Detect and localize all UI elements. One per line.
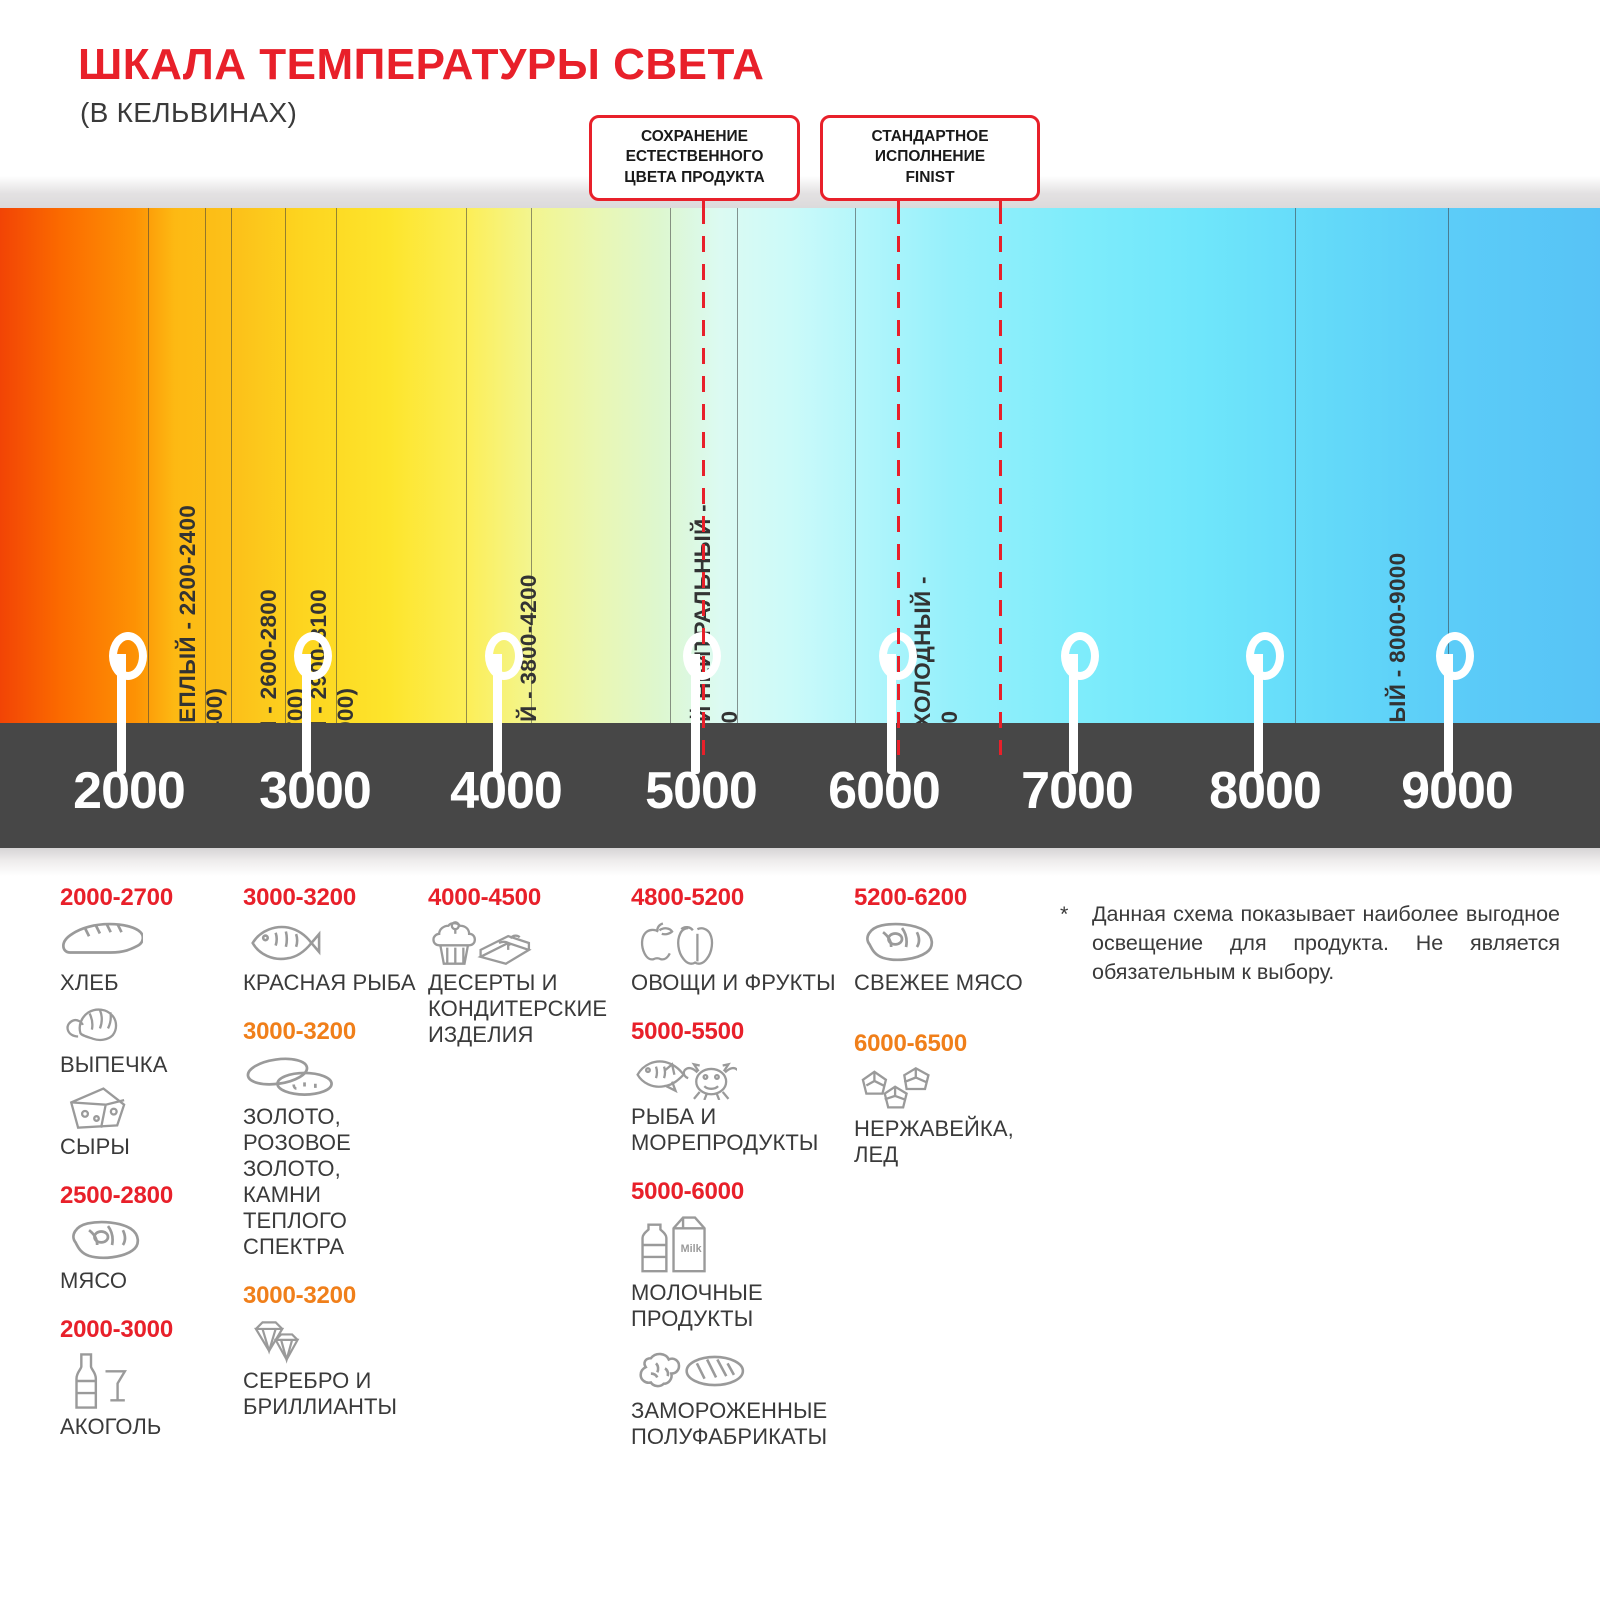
legend-range: 6000-6500 xyxy=(854,1030,1044,1058)
callout-1-line-2: ЕСТЕСТВЕННОГО xyxy=(604,147,785,167)
diamond-icon xyxy=(245,1318,311,1364)
pin-ring xyxy=(485,632,523,680)
legend-item-label: ЗАМОРОЖЕННЫЕ ПОЛУФАБРИКАТЫ xyxy=(631,1398,851,1450)
legend-range: 4800-5200 xyxy=(631,884,851,912)
legend-item-label: СВЕЖЕЕ МЯСО xyxy=(854,970,1044,996)
legend-item-gold: ЗОЛОТО, РОЗОВОЕ ЗОЛОТО, КАМНИ ТЕПЛОГО СП… xyxy=(243,1054,423,1260)
legend-column-2: 3000-3200 КРАСНАЯ РЫБА 3000-3200 xyxy=(243,884,423,1442)
legend-item-label: НЕРЖАВЕЙКА, ЛЕД xyxy=(854,1116,1044,1168)
legend-group: 3000-3200 СЕРЕБРО И БРИЛЛИАНТЫ xyxy=(243,1282,423,1420)
legend-item-desserts: ДЕСЕРТЫ И КОНДИТЕРСКИЕ ИЗДЕЛИЯ xyxy=(428,920,618,1048)
callout-natural-color: СОХРАНЕНИЕ ЕСТЕСТВЕННОГО ЦВЕТА ПРОДУКТА xyxy=(589,115,800,201)
legend-item-stainless-ice: НЕРЖАВЕЙКА, ЛЕД xyxy=(854,1066,1044,1168)
spectrum-label-super-warm-line2: (тип К 2400) xyxy=(202,688,228,723)
boundary-dash-6500 xyxy=(999,208,1002,755)
legend-range: 3000-3200 xyxy=(243,1282,423,1310)
legend-range: 2000-2700 xyxy=(60,884,235,912)
callout-2-line-2: ИСПОЛНЕНИЕ xyxy=(835,147,1025,167)
top-grey-band xyxy=(0,176,1600,208)
legend: 2000-2700 ХЛЕБ ВЫПЕЧКА xyxy=(0,884,1600,1600)
legend-item-label: МОЛОЧНЫЕ ПРОДУКТЫ xyxy=(631,1280,851,1332)
pin-ring xyxy=(294,632,332,680)
spectrum-divider xyxy=(466,208,467,723)
frozen-food-icon xyxy=(633,1348,748,1394)
legend-item-dairy: Milk МОЛОЧНЫЕ ПРОДУКТЫ xyxy=(631,1214,851,1332)
legend-item-silver-diamonds: СЕРЕБРО И БРИЛЛИАНТЫ xyxy=(243,1318,423,1420)
fish-crab-icon xyxy=(633,1054,737,1100)
spectrum-divider xyxy=(670,208,671,723)
legend-range: 5000-5500 xyxy=(631,1018,851,1046)
legend-range: 5000-6000 xyxy=(631,1178,851,1206)
scale-band: 2000 3000 4000 5000 6000 7000 8000 9000 xyxy=(0,723,1600,848)
legend-group: 2500-2800 МЯСО xyxy=(60,1182,235,1294)
spectrum-label-warm-2700-line1: ТЕПЛЫЙ - 2600-2800 xyxy=(256,589,282,723)
fish-icon xyxy=(245,920,322,966)
legend-item-alcohol: АКОГОЛЬ xyxy=(60,1352,235,1440)
legend-item-fish-seafood: РЫБА И МОРЕПРОДУКТЫ xyxy=(631,1054,851,1156)
boundary-dash-4800 xyxy=(702,208,705,755)
pin-ring xyxy=(1436,632,1474,680)
scale-tick-2000: 2000 xyxy=(73,761,185,821)
legend-item-label: РЫБА И МОРЕПРОДУКТЫ xyxy=(631,1104,851,1156)
scale-tick-5000: 5000 xyxy=(645,761,757,821)
legend-item-label: СЕРЕБРО И БРИЛЛИАНТЫ xyxy=(243,1368,423,1420)
rings-icon xyxy=(245,1054,340,1100)
legend-item-label: АКОГОЛЬ xyxy=(60,1414,235,1440)
legend-group: 4000-4500 ДЕСЕРТЫ И КОНДИТЕРСКИЕ ИЗДЕЛИЯ xyxy=(428,884,618,1048)
legend-group: 6000-6500 НЕРЖАВЕЙКА, ЛЕД xyxy=(854,1030,1044,1168)
cheese-icon xyxy=(62,1084,131,1130)
legend-item-label: СЫРЫ xyxy=(60,1134,235,1160)
steak-icon xyxy=(62,1218,143,1264)
legend-item-label: ДЕСЕРТЫ И КОНДИТЕРСКИЕ ИЗДЕЛИЯ xyxy=(428,970,618,1048)
pin-ring xyxy=(109,632,147,680)
legend-item-red-fish: КРАСНАЯ РЫБА xyxy=(243,920,423,996)
bottle-glass-icon xyxy=(62,1352,135,1410)
spectrum-divider xyxy=(148,208,149,723)
spectrum-label-super-warm-line1: СУПЕР ТЕПЛЫЙ - 2200-2400 xyxy=(175,505,201,723)
legend-item-frozen: ЗАМОРОЖЕННЫЕ ПОЛУФАБРИКАТЫ xyxy=(631,1348,851,1450)
page-subtitle: (В КЕЛЬВИНАХ) xyxy=(80,97,297,129)
page-title: ШКАЛА ТЕМПЕРАТУРЫ СВЕТА xyxy=(78,40,764,90)
legend-group: 2000-2700 ХЛЕБ ВЫПЕЧКА xyxy=(60,884,235,1160)
legend-group: 2000-3000 АКОГОЛЬ xyxy=(60,1316,235,1440)
legend-item-label: ХЛЕБ xyxy=(60,970,235,996)
spectrum-label-cool-white-line2: 5800-6500 xyxy=(937,711,963,723)
spectrum-divider xyxy=(285,208,286,723)
footnote: * Данная схема показывает наиболее выгод… xyxy=(1060,900,1560,986)
legend-range: 4000-4500 xyxy=(428,884,618,912)
cupcake-cake-icon xyxy=(430,920,534,966)
legend-item-cheese: СЫРЫ xyxy=(60,1084,235,1160)
legend-group: 5200-6200 СВЕЖЕЕ МЯСО xyxy=(854,884,1044,996)
scale-tick-8000: 8000 xyxy=(1209,761,1321,821)
croissant-icon xyxy=(62,1002,131,1048)
legend-range: 5200-6200 xyxy=(854,884,1044,912)
legend-range: 2000-3000 xyxy=(60,1316,235,1344)
footnote-marker: * xyxy=(1060,900,1068,929)
pin-ring xyxy=(1061,632,1099,680)
spectrum-label-cool: ХОЛОДНЫЙ - 8000-9000 xyxy=(1385,553,1411,723)
legend-column-4: 4800-5200 ОВОЩИ И ФРУКТЫ 5000-5500 xyxy=(631,884,851,1472)
boundary-dash-5800 xyxy=(897,208,900,755)
legend-column-5: 5200-6200 СВЕЖЕЕ МЯСО 6000-6500 xyxy=(854,884,1044,1190)
legend-item-vegetables-fruits: ОВОЩИ И ФРУКТЫ xyxy=(631,920,851,996)
callout-1-line-3: ЦВЕТА ПРОДУКТА xyxy=(604,168,785,188)
legend-item-label: ЗОЛОТО, РОЗОВОЕ ЗОЛОТО, КАМНИ ТЕПЛОГО СП… xyxy=(243,1104,423,1260)
spectrum-divider xyxy=(855,208,856,723)
scale-tick-4000: 4000 xyxy=(450,761,562,821)
header: ШКАЛА ТЕМПЕРАТУРЫ СВЕТА (В КЕЛЬВИНАХ) xyxy=(0,0,1600,200)
legend-group: 3000-3200 КРАСНАЯ РЫБА xyxy=(243,884,423,996)
legend-range: 3000-3200 xyxy=(243,884,423,912)
legend-item-label: ВЫПЕЧКА xyxy=(60,1052,235,1078)
spectrum-divider xyxy=(205,208,206,723)
bread-icon xyxy=(62,920,143,966)
scale-tick-6000: 6000 xyxy=(828,761,940,821)
svg-text:Milk: Milk xyxy=(681,1243,702,1255)
legend-column-3: 4000-4500 ДЕСЕРТЫ И КОНДИТЕРСКИЕ ИЗДЕЛИЯ xyxy=(428,884,618,1070)
scale-tick-3000: 3000 xyxy=(259,761,371,821)
spectrum-gradient-bar: СУПЕР ТЕПЛЫЙ - 2200-2400 (тип К 2400) ТЕ… xyxy=(0,208,1600,723)
legend-item-label: ОВОЩИ И ФРУКТЫ xyxy=(631,970,851,996)
callout-2-line-1: СТАНДАРТНОЕ xyxy=(835,127,1025,147)
spectrum-divider xyxy=(1295,208,1296,723)
legend-range: 3000-3200 xyxy=(243,1018,423,1046)
spectrum-label-daylight-neutral-line2: 4800-5200 xyxy=(717,711,743,723)
scale-band-shadow xyxy=(0,848,1600,876)
pin-ring xyxy=(1246,632,1284,680)
callout-finist-standard: СТАНДАРТНОЕ ИСПОЛНЕНИЕ FINIST xyxy=(820,115,1040,201)
spectrum-label-warm-3000-line2: (тип К 3000) xyxy=(333,688,359,723)
legend-item-fresh-meat: СВЕЖЕЕ МЯСО xyxy=(854,920,1044,996)
legend-range: 2500-2800 xyxy=(60,1182,235,1210)
callout-1-line-1: СОХРАНЕНИЕ xyxy=(604,127,785,147)
milk-carton-icon: Milk xyxy=(633,1214,716,1276)
legend-item-pastry: ВЫПЕЧКА xyxy=(60,1002,235,1078)
spectrum-divider xyxy=(737,208,738,723)
legend-group: 4800-5200 ОВОЩИ И ФРУКТЫ xyxy=(631,884,851,996)
spectrum-divider xyxy=(336,208,337,723)
legend-group: 3000-3200 ЗОЛОТО, РОЗОВОЕ ЗОЛОТО, КАМНИ … xyxy=(243,1018,423,1260)
legend-item-meat: МЯСО xyxy=(60,1218,235,1294)
legend-item-label: КРАСНАЯ РЫБА xyxy=(243,970,423,996)
scale-tick-9000: 9000 xyxy=(1401,761,1513,821)
apple-pepper-icon xyxy=(633,920,725,966)
ice-cubes-icon xyxy=(856,1066,937,1112)
legend-item-label: МЯСО xyxy=(60,1268,235,1294)
fresh-meat-icon xyxy=(856,920,937,966)
legend-item-bread: ХЛЕБ xyxy=(60,920,235,996)
footnote-text: Данная схема показывает наиболее выгодно… xyxy=(1092,900,1560,986)
spectrum-divider xyxy=(231,208,232,723)
legend-group: 5000-6000 Milk МОЛОЧНЫЕ ПРОДУКТЫ xyxy=(631,1178,851,1450)
legend-column-1: 2000-2700 ХЛЕБ ВЫПЕЧКА xyxy=(60,884,235,1462)
callout-2-line-3: FINIST xyxy=(835,168,1025,188)
legend-group: 5000-5500 РЫБА И МОРЕПРОДУКТЫ xyxy=(631,1018,851,1156)
